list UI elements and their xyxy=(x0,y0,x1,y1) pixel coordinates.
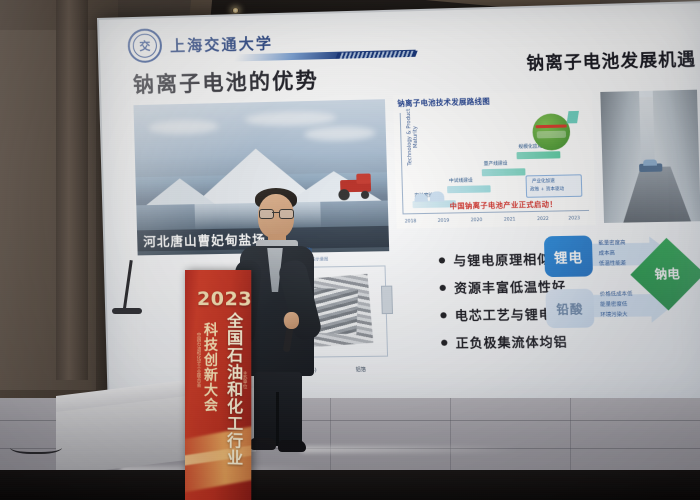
list-item: 正负极集流体均铝 xyxy=(441,331,582,352)
slide-title-right: 钠离子电池发展机遇 xyxy=(526,44,696,74)
speaker-shoe-left xyxy=(250,438,276,450)
chart-x-tick: 2018 xyxy=(405,219,417,224)
podium-subtitle-left: 中国石油和化学工业联合会 xyxy=(191,332,201,387)
cell-label-foil: 铝箔 xyxy=(356,366,366,373)
bullet-text: 正负极集流体均铝 xyxy=(455,331,568,352)
snow-road-photo xyxy=(600,90,700,223)
chart-step-label: 中试线建设 xyxy=(449,177,473,184)
podium-year: 2023 xyxy=(197,288,251,310)
chart-step xyxy=(517,151,561,159)
podium-title-line1: 全国石油和化工行业 xyxy=(215,312,241,466)
glasses-icon xyxy=(259,209,293,218)
badge-lithium: 锂电 xyxy=(544,235,593,277)
cell-tab-right xyxy=(381,286,393,315)
chart-flag-icon xyxy=(567,111,579,124)
roadmap-chart: 钠离子电池技术发展路线图 Technology & Product Maturi… xyxy=(393,90,596,229)
chart-x-tick: 2019 xyxy=(438,219,450,224)
bullet-text: 与锂电原理相似 xyxy=(453,248,552,269)
arrow-note-lithium-2: 成本高 xyxy=(599,250,616,258)
floor-light-reflection xyxy=(300,446,520,453)
badge-lead-acid: 铅酸 xyxy=(545,289,594,329)
badge-lead-acid-label: 铅酸 xyxy=(556,300,584,318)
sjtu-name: 上海交通大学 xyxy=(170,32,274,56)
arrow-note-leadacid-2: 能量密度低 xyxy=(600,301,627,309)
chart-note-line2: 政策 + 资本驱动 xyxy=(530,186,564,193)
salt-mound-left xyxy=(146,178,215,205)
chart-x-tick: 2020 xyxy=(471,218,483,223)
speaker-leg-split xyxy=(276,392,279,446)
arrow-note-leadacid-3: 环境污染大 xyxy=(600,312,627,320)
chart-annotation-red: 中国钠离子电池产业正式启动！ xyxy=(450,199,558,211)
chart-vehicle-icon xyxy=(414,189,445,202)
stage-front-edge xyxy=(0,470,700,500)
arrow-note-leadacid-1: 价格低成本低 xyxy=(600,291,633,299)
chart-note-box: 产业化加速 政策 + 资本驱动 xyxy=(525,174,582,198)
header-rule-text-block xyxy=(340,51,414,59)
slide-title-left: 钠离子电池的优势 xyxy=(132,64,319,99)
chart-x-tick: 2021 xyxy=(504,217,516,222)
badge-sodium-label: 钠电 xyxy=(655,268,681,281)
speaker-shoe-right xyxy=(278,440,306,452)
bullet-dot-icon xyxy=(441,339,447,345)
sjtu-seal-icon: 交 xyxy=(127,28,162,63)
chart-x-tick: 2022 xyxy=(537,217,549,222)
sjtu-seal-glyph: 交 xyxy=(139,40,150,51)
tractor-icon xyxy=(334,176,380,199)
wall-pillar xyxy=(56,0,88,380)
chart-y-label: Technology & Product Maturity xyxy=(406,105,420,168)
bullet-dot-icon xyxy=(439,257,445,263)
floor-cable xyxy=(10,438,62,454)
car-icon xyxy=(639,159,663,173)
chart-y-axis xyxy=(400,113,404,214)
chart-x-tick: 2023 xyxy=(568,216,580,221)
chart-step-label: 量产线建设 xyxy=(484,160,508,167)
bullet-dot-icon xyxy=(440,284,446,290)
ceiling-spotlight xyxy=(232,8,239,13)
mic-stand-base xyxy=(112,308,142,314)
bullet-dot-icon xyxy=(440,312,446,318)
podium-banner: 2023 全国石油和化工行业 科技创新大会 中国石油和化学工业联合会 主办单位 xyxy=(185,270,251,500)
arrow-note-lithium-3: 低温性能差 xyxy=(599,260,626,268)
chart-step xyxy=(482,168,526,176)
podium-subtitle-right: 主办单位 xyxy=(237,371,247,389)
speaker-hand xyxy=(284,312,299,329)
badge-lithium-label: 锂电 xyxy=(554,246,584,266)
arrow-note-lithium-1: 能量密度高 xyxy=(598,240,625,248)
conference-photo: 交 上海交通大学 钠离子电池的优势 钠离子电池发展机遇 xyxy=(0,0,700,500)
chart-highlight-bubble xyxy=(532,113,571,151)
chart-note-line1: 产业化加速 xyxy=(532,178,555,185)
chart-step xyxy=(447,185,491,193)
